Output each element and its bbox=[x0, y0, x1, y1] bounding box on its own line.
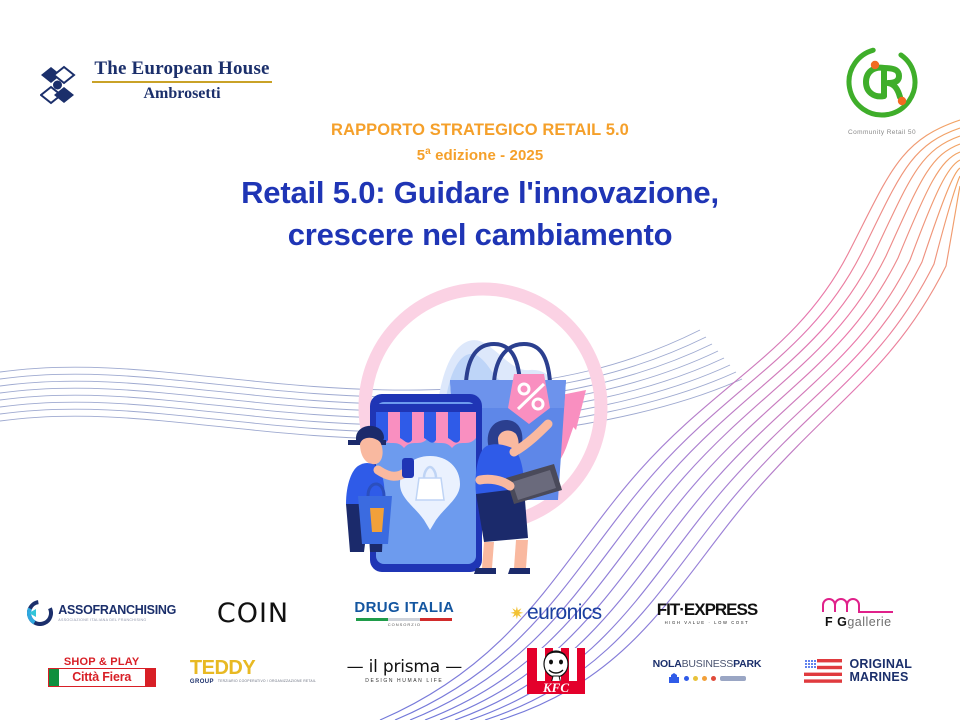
fg-gallerie-arches-icon bbox=[821, 597, 895, 613]
ambrosetti-logo: The European House Ambrosetti bbox=[40, 58, 270, 114]
teddy-name: TEDD bbox=[190, 657, 242, 679]
presentation-slide: The European House Ambrosetti Community … bbox=[0, 0, 960, 720]
il-prisma-tagline: DESIGN HUMAN LIFE bbox=[347, 678, 462, 684]
nola-partner-dots bbox=[653, 673, 762, 684]
shop-and-play-name: SHOP & PLAY bbox=[48, 656, 156, 668]
sponsor-nola-business-park: NOLABUSINESSPARK bbox=[631, 646, 782, 696]
edition-year: edizione - 2025 bbox=[431, 147, 543, 164]
retail-ecommerce-illustration bbox=[318, 252, 648, 582]
sponsor-fg-gallerie: F Ggallerie bbox=[783, 588, 934, 638]
original-marines-line-1: ORIGINAL bbox=[849, 658, 912, 672]
report-kicker: RAPPORTO STRATEGICO RETAIL 5.0 5a edizio… bbox=[0, 120, 960, 166]
ambrosetti-title: The European House bbox=[92, 58, 272, 80]
assofranchising-tagline: ASSOCIAZIONE ITALIANA DEL FRANCHISING bbox=[58, 617, 176, 623]
sponsor-original-marines: ORIGINAL MARINES bbox=[783, 646, 934, 696]
drug-italia-bar bbox=[356, 618, 452, 621]
drug-italia-tagline: CONSORZIO bbox=[354, 622, 454, 627]
euronics-star-icon: ✷ bbox=[510, 605, 524, 622]
sponsor-kfc: KFC bbox=[480, 646, 631, 696]
original-marines-flag-icon bbox=[804, 659, 842, 683]
sponsor-il-prisma: — il prisma — DESIGN HUMAN LIFE bbox=[329, 646, 480, 696]
fg-gallerie-name-bold: F G bbox=[825, 615, 847, 629]
teddy-group-label: GROUP bbox=[190, 679, 214, 685]
sponsor-coin: COIN bbox=[177, 588, 328, 638]
sponsor-logos: ASSOFRANCHISING ASSOCIAZIONE ITALIANA DE… bbox=[0, 588, 960, 698]
svg-text:KFC: KFC bbox=[542, 680, 569, 694]
euronics-name: euronics bbox=[527, 601, 602, 625]
original-marines-line-2: MARINES bbox=[849, 671, 912, 685]
sponsor-teddy: TEDDY GROUP TERZIARIO COOPERATIVO / ORGA… bbox=[177, 646, 328, 696]
assofranchising-circular-arrow-icon bbox=[27, 600, 53, 626]
teddy-name-accent: Y bbox=[242, 657, 255, 679]
ambrosetti-subtitle: Ambrosetti bbox=[92, 84, 272, 103]
fit-express-tagline: HIGH VALUE · LOW COST bbox=[657, 620, 757, 625]
sponsor-row-2: SHOP & PLAY Città Fiera TEDDY GROUP TERZ… bbox=[0, 646, 960, 696]
ambrosetti-diamonds-icon bbox=[40, 64, 86, 106]
assofranchising-name: ASSOFRANCHISING bbox=[58, 604, 176, 617]
drug-italia-name: DRUG ITALIA bbox=[354, 600, 454, 616]
edition-number: 5 bbox=[417, 147, 425, 164]
nola-name-a: NOLA bbox=[653, 658, 682, 670]
page-title: Retail 5.0: Guidare l'innovazione, cresc… bbox=[0, 172, 960, 256]
teddy-tagline: TERZIARIO COOPERATIVO / ORGANIZZAZIONE R… bbox=[218, 679, 316, 684]
sponsor-euronics: ✷ euronics bbox=[480, 588, 631, 638]
sponsor-row-1: ASSOFRANCHISING ASSOCIAZIONE ITALIANA DE… bbox=[0, 588, 960, 638]
citta-fiera-band: Città Fiera bbox=[48, 668, 156, 687]
ambrosetti-rule bbox=[92, 81, 272, 83]
nola-name-c: PARK bbox=[733, 658, 761, 670]
nola-castle-icon bbox=[668, 673, 680, 684]
kfc-colonel-icon: KFC bbox=[527, 648, 585, 694]
fit-express-name: FIT·EXPRESS bbox=[657, 601, 757, 619]
cr-monogram-icon bbox=[826, 40, 938, 126]
fg-gallerie-name-light: gallerie bbox=[847, 615, 891, 629]
nola-partner-mark-icon bbox=[720, 674, 746, 683]
smartphone-storefront bbox=[370, 394, 482, 572]
sponsor-assofranchising: ASSOFRANCHISING ASSOCIAZIONE ITALIANA DE… bbox=[26, 588, 177, 638]
title-line-1: Retail 5.0: Guidare l'innovazione, bbox=[0, 172, 960, 214]
sponsor-drug-italia: DRUG ITALIA CONSORZIO bbox=[329, 588, 480, 638]
nola-name-b: BUSINESS bbox=[682, 658, 734, 670]
kicker-line-1: RAPPORTO STRATEGICO RETAIL 5.0 bbox=[0, 120, 960, 141]
sponsor-fit-express: FIT·EXPRESS HIGH VALUE · LOW COST bbox=[631, 588, 782, 638]
kicker-line-2: 5a edizione - 2025 bbox=[0, 141, 960, 166]
sponsor-shop-and-play: SHOP & PLAY Città Fiera bbox=[26, 646, 177, 696]
citta-fiera-name: Città Fiera bbox=[59, 669, 145, 686]
title-line-2: crescere nel cambiamento bbox=[0, 214, 960, 256]
coin-name: COIN bbox=[217, 598, 289, 629]
il-prisma-name: il prisma bbox=[369, 657, 440, 677]
